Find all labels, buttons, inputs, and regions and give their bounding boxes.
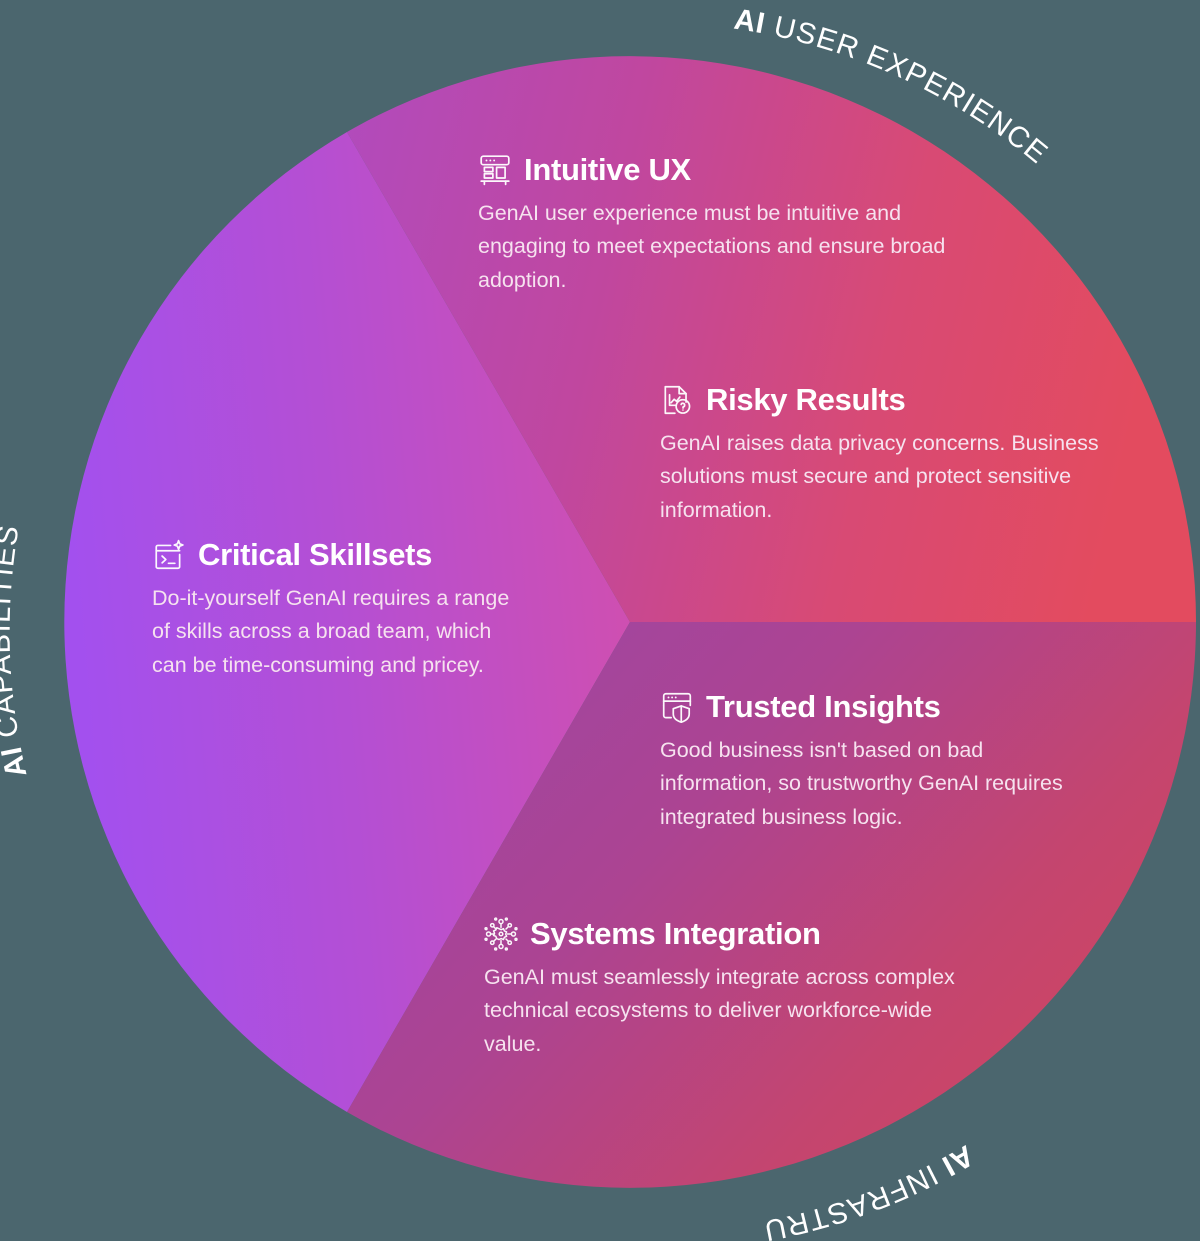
panel-risky-results: Risky Results GenAI raises data privacy … [660,383,1120,527]
panel-intuitive-ux: Intuitive UX GenAI user experience must … [478,153,978,297]
panel-title: Intuitive UX [524,154,691,187]
browser-layout-icon [478,153,512,187]
panel-header: Critical Skillsets [152,538,522,572]
panel-title: Critical Skillsets [198,539,432,572]
network-hub-icon [484,917,518,951]
panel-body: GenAI must seamlessly integrate across c… [484,961,984,1061]
panel-critical-skillsets: Critical Skillsets Do-it-yourself GenAI … [152,538,522,682]
panel-header: Intuitive UX [478,153,978,187]
panel-header: Risky Results [660,383,1120,417]
panel-title: Risky Results [706,384,905,417]
panel-body: GenAI raises data privacy concerns. Busi… [660,427,1120,527]
panel-header: Systems Integration [484,917,984,951]
infographic-stage: AI USER EXPERIENCE AI INFRASTRUCTURE AI … [0,0,1200,1241]
panel-body: Good business isn't based on bad informa… [660,734,1100,834]
panel-trusted-insights: Trusted Insights Good business isn't bas… [660,690,1100,834]
panel-title: Trusted Insights [706,691,941,724]
panel-title: Systems Integration [530,918,821,951]
panel-body: GenAI user experience must be intuitive … [478,197,978,297]
panel-body: Do-it-yourself GenAI requires a range of… [152,582,522,682]
panel-header: Trusted Insights [660,690,1100,724]
arc-label-ai-capabilities: AI CAPABILITIES [0,522,34,781]
browser-shield-icon [660,690,694,724]
document-chart-question-icon [660,383,694,417]
terminal-sparkle-icon [152,538,186,572]
panel-systems-integration: Systems Integration GenAI must seamlessl… [484,917,984,1061]
